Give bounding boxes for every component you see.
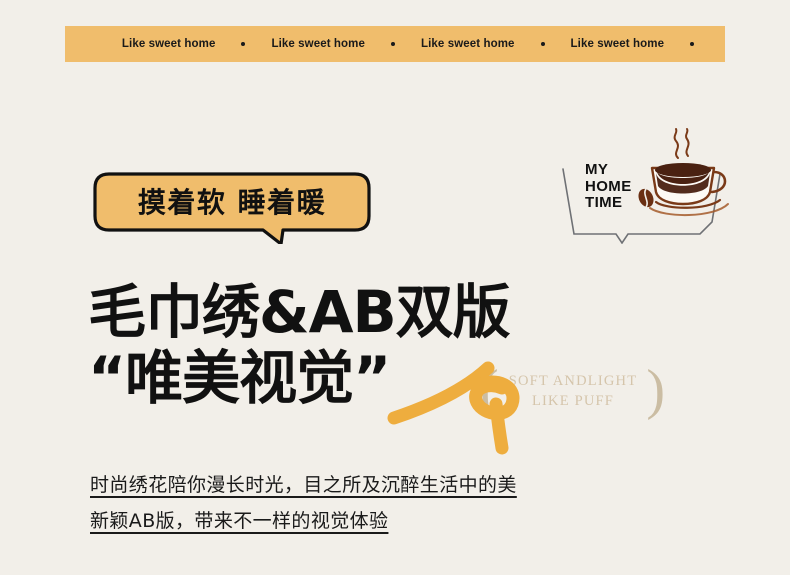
description-row: 新颖AB版，带来不一样的视觉体验 <box>90 504 650 540</box>
description-block: 时尚绣花陪你漫长时光，目之所及沉醉生活中的美 新颖AB版，带来不一样的视觉体验 <box>90 468 650 540</box>
banner-text: Like sweet home <box>96 38 242 50</box>
speech-bubble-label: 摸着软 睡着暖 <box>93 172 371 230</box>
banner-text: Like sweet home <box>395 38 541 50</box>
coffee-cup-icon <box>638 126 734 230</box>
banner-text: Like sweet home <box>545 38 691 50</box>
speech-bubble: 摸着软 睡着暖 <box>93 172 378 244</box>
marquee-banner: Like sweet home Like sweet home Like swe… <box>65 26 725 62</box>
banner-dot-icon <box>690 42 694 46</box>
badge-label-line2: HOME <box>585 179 632 196</box>
description-line-2: 新颖AB版，带来不一样的视觉体验 <box>90 504 388 538</box>
headline-block: 毛巾绣&AB双版 “唯美视觉” <box>88 280 688 410</box>
home-time-badge: MY HOME TIME <box>560 126 740 244</box>
banner-text: Like sweet home <box>245 38 391 50</box>
banner-item: Like sweet home <box>545 38 695 50</box>
badge-label-line3: TIME <box>585 195 632 212</box>
description-line-1: 时尚绣花陪你漫长时光，目之所及沉醉生活中的美 <box>90 468 517 502</box>
headline-line-2: “唯美视觉” <box>88 346 688 410</box>
description-row: 时尚绣花陪你漫长时光，目之所及沉醉生活中的美 <box>90 468 650 504</box>
badge-label: MY HOME TIME <box>585 162 632 212</box>
banner-item: Like sweet home <box>245 38 395 50</box>
badge-label-line1: MY <box>585 162 632 179</box>
banner-item: Like sweet home <box>395 38 545 50</box>
headline-line-1: 毛巾绣&AB双版 <box>88 280 688 344</box>
banner-item: Like sweet home <box>96 38 246 50</box>
promo-page: Like sweet home Like sweet home Like swe… <box>0 0 790 575</box>
coffee-bean-icon <box>638 186 656 209</box>
